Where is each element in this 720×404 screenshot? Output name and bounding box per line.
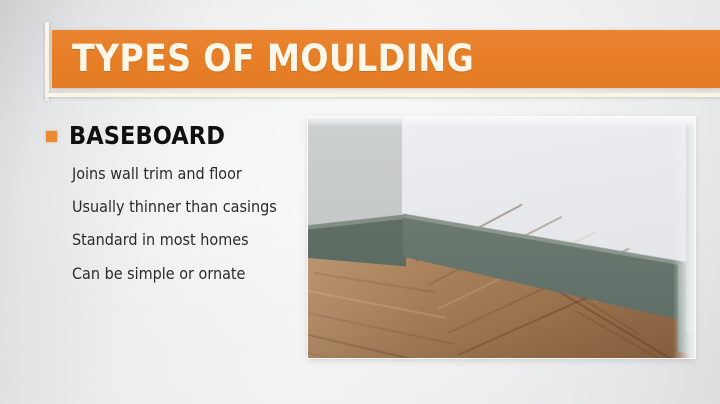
slide-root: TYPES OF MOULDING BASEBOARD Joins wall t… xyxy=(0,0,720,404)
title-banner: TYPES OF MOULDING xyxy=(0,22,720,102)
list-item: Joins wall trim and floor xyxy=(72,164,282,184)
photo-scene xyxy=(308,117,695,358)
section-heading-row: BASEBOARD xyxy=(46,122,296,150)
title-vertical-rule xyxy=(45,22,49,101)
section-heading: BASEBOARD xyxy=(69,122,225,150)
list-item: Usually thinner than casings xyxy=(72,197,282,217)
square-bullet-icon xyxy=(46,131,57,142)
list-item: Standard in most homes xyxy=(72,230,282,250)
content-column: BASEBOARD Joins wall trim and floor Usua… xyxy=(46,122,296,297)
photo-right-glow xyxy=(673,117,695,358)
feature-list: Joins wall trim and floor Usually thinne… xyxy=(72,164,296,285)
list-item: Can be simple or ornate xyxy=(72,264,282,284)
page-title: TYPES OF MOULDING xyxy=(72,40,474,77)
photo-top-fade xyxy=(308,117,695,127)
baseboard-photo xyxy=(308,117,695,358)
title-bar: TYPES OF MOULDING xyxy=(52,30,720,88)
title-horizontal-rule xyxy=(45,93,720,97)
